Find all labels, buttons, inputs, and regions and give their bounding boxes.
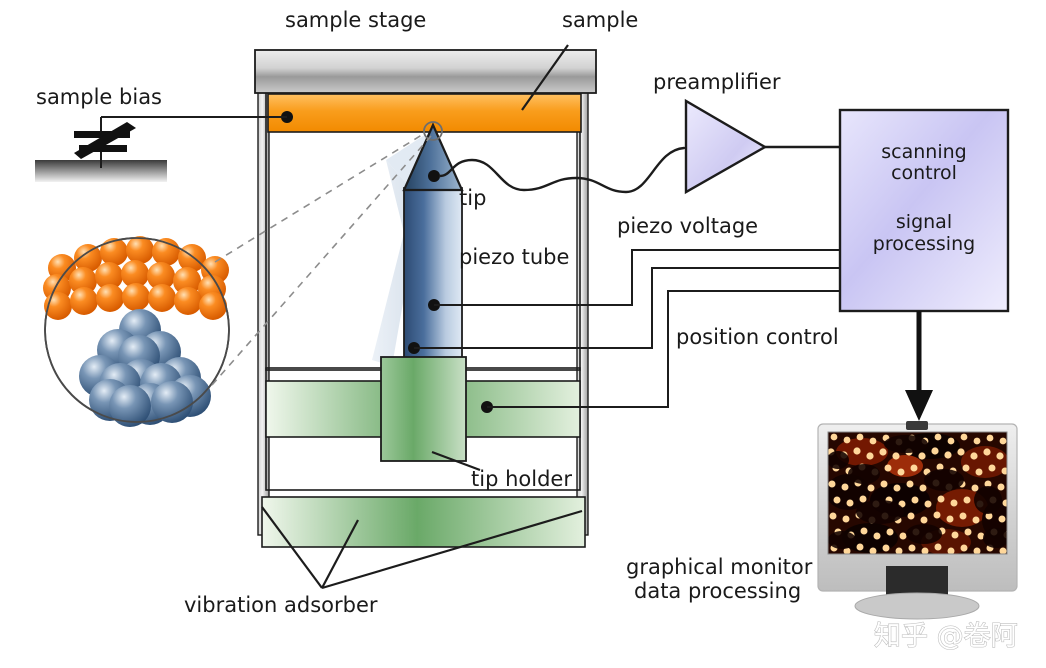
tip-holder-assembly <box>266 357 580 470</box>
label-graphical-monitor-line1: graphical monitor <box>626 555 813 579</box>
watermark-text: 知乎 @卷阿 <box>874 621 1018 652</box>
label-vibration-adsorber: vibration adsorber <box>184 593 378 617</box>
label-sample: sample <box>562 8 638 32</box>
label-graphical-monitor-line2: data processing <box>634 579 801 603</box>
controller-line-1: scanning <box>881 141 966 163</box>
arrow-head <box>905 390 933 421</box>
bias-variable-arrow <box>74 122 136 159</box>
tip-contact-dot <box>428 170 440 182</box>
controller-line-3: signal <box>896 211 952 233</box>
sample-stage-plate <box>255 50 596 93</box>
piezo-tube-body <box>404 188 462 364</box>
stm-diagram-canvas: scanning control signal processing <box>0 0 1046 668</box>
chamber-post-right <box>577 92 588 535</box>
stm-image-content <box>826 432 1018 555</box>
stm-schematic-svg: scanning control signal processing <box>0 0 1046 668</box>
vibration-adsorber-lower <box>262 497 585 588</box>
graphical-monitor <box>818 421 1018 619</box>
controller-box: scanning control signal processing <box>840 110 1008 311</box>
preamplifier-triangle <box>686 101 765 192</box>
label-sample-bias: sample bias <box>36 85 162 109</box>
dashed-line-top <box>215 133 425 262</box>
vibration-adsorber-lower-plate <box>262 497 585 547</box>
controller-to-monitor-arrow <box>905 311 933 421</box>
label-preamplifier: preamplifier <box>653 70 781 94</box>
label-tip-holder: tip holder <box>471 467 572 491</box>
label-tip: tip <box>459 186 486 210</box>
tip-holder-block <box>381 357 466 461</box>
chamber-post-left <box>258 92 269 535</box>
label-position-control: position control <box>676 325 839 349</box>
preamplifier <box>686 101 840 192</box>
tip-and-piezo-assembly <box>372 122 462 366</box>
sample-bias-source <box>35 117 287 182</box>
controller-line-4: processing <box>873 233 975 255</box>
label-piezo-voltage: piezo voltage <box>617 214 758 238</box>
monitor-logo-badge <box>906 421 928 430</box>
label-sample-stage: sample stage <box>285 8 426 32</box>
monitor-base <box>855 593 979 619</box>
sample-stage-assembly <box>255 45 596 132</box>
atomic-scale-inset <box>43 236 229 427</box>
controller-line-2: control <box>891 162 957 184</box>
label-piezo-tube: piezo tube <box>459 245 569 269</box>
